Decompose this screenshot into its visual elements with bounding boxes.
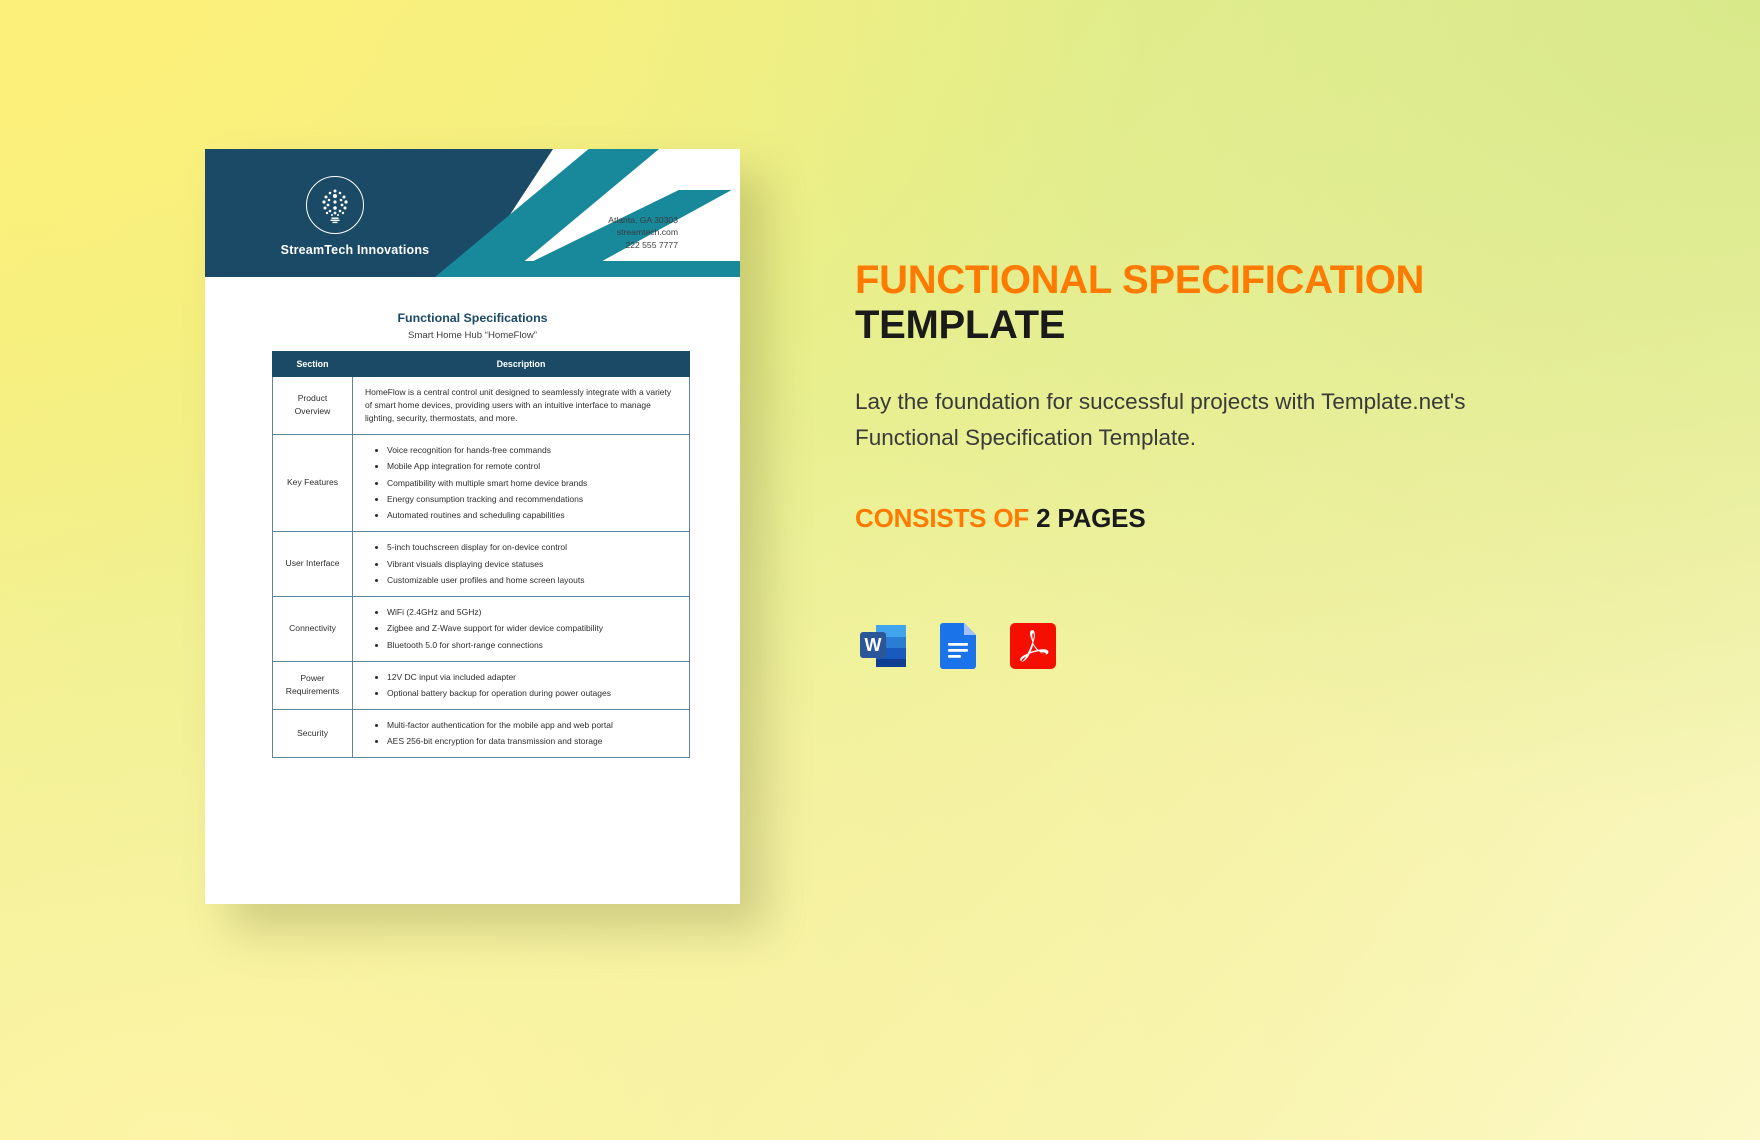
adobe-pdf-icon[interactable]: [1005, 618, 1061, 674]
description-paragraph: HomeFlow is a central control unit desig…: [365, 386, 679, 425]
table-row: ConnectivityWiFi (2.4GHz and 5GHz)Zigbee…: [273, 596, 690, 661]
list-item: Zigbee and Z-Wave support for wider devi…: [387, 622, 679, 635]
list-item: Mobile App integration for remote contro…: [387, 460, 679, 473]
list-item: Automated routines and scheduling capabi…: [387, 509, 679, 522]
cell-description: HomeFlow is a central control unit desig…: [353, 377, 690, 435]
list-item: Bluetooth 5.0 for short-range connection…: [387, 639, 679, 652]
list-item: Vibrant visuals displaying device status…: [387, 558, 679, 571]
cell-description: WiFi (2.4GHz and 5GHz)Zigbee and Z-Wave …: [353, 596, 690, 661]
list-item: Optional battery backup for operation du…: [387, 687, 679, 700]
description-list: Voice recognition for hands-free command…: [365, 444, 679, 523]
cell-section: Security: [273, 710, 353, 758]
google-docs-icon[interactable]: [930, 618, 986, 674]
table-row: Key FeaturesVoice recognition for hands-…: [273, 434, 690, 532]
brand-name: StreamTech Innovations: [205, 243, 505, 257]
contact-website: streamtech.com: [608, 226, 678, 238]
list-item: AES 256-bit encryption for data transmis…: [387, 735, 679, 748]
page-root: StreamTech Innovations Atlanta, GA 30303…: [0, 0, 1760, 1140]
cell-description: Multi-factor authentication for the mobi…: [353, 710, 690, 758]
promo-description: Lay the foundation for successful projec…: [855, 384, 1495, 457]
cell-description: 5-inch touchscreen display for on-device…: [353, 532, 690, 597]
description-list: 12V DC input via included adapterOptiona…: [365, 671, 679, 700]
table-row: User Interface5-inch touchscreen display…: [273, 532, 690, 597]
column-header-section: Section: [273, 352, 353, 377]
cell-section: Connectivity: [273, 596, 353, 661]
contact-block: Atlanta, GA 30303 streamtech.com 222 555…: [608, 214, 678, 251]
description-list: Multi-factor authentication for the mobi…: [365, 719, 679, 748]
logo-circle: [306, 176, 364, 234]
page-title: FUNCTIONAL SPECIFICATION TEMPLATE: [855, 258, 1495, 348]
table-row: Product OverviewHomeFlow is a central co…: [273, 377, 690, 435]
list-item: Multi-factor authentication for the mobi…: [387, 719, 679, 732]
table-header-row: Section Description: [273, 352, 690, 377]
letterhead-header: StreamTech Innovations Atlanta, GA 30303…: [205, 149, 740, 277]
specifications-table: Section Description Product OverviewHome…: [272, 351, 690, 758]
consists-of-label: CONSISTS OF: [855, 503, 1029, 533]
contact-address: Atlanta, GA 30303: [608, 214, 678, 226]
headline-line-1: FUNCTIONAL SPECIFICATION: [855, 258, 1495, 303]
list-item: WiFi (2.4GHz and 5GHz): [387, 606, 679, 619]
pages-value: 2 PAGES: [1036, 503, 1145, 533]
promo-panel: FUNCTIONAL SPECIFICATION TEMPLATE Lay th…: [855, 258, 1495, 534]
pages-count-line: CONSISTS OF 2 PAGES: [855, 503, 1495, 534]
document-subtitle: Smart Home Hub “HomeFlow”: [205, 330, 740, 341]
file-format-list: W: [855, 618, 1061, 674]
cell-section: Product Overview: [273, 377, 353, 435]
cell-section: Key Features: [273, 434, 353, 532]
cell-description: Voice recognition for hands-free command…: [353, 434, 690, 532]
document-title: Functional Specifications: [205, 311, 740, 325]
list-item: Customizable user profiles and home scre…: [387, 574, 679, 587]
column-header-description: Description: [353, 352, 690, 377]
table-row: Power Requirements12V DC input via inclu…: [273, 661, 690, 709]
list-item: 12V DC input via included adapter: [387, 671, 679, 684]
headline-line-2: TEMPLATE: [855, 303, 1495, 348]
document-preview-card[interactable]: StreamTech Innovations Atlanta, GA 30303…: [205, 149, 740, 904]
description-list: 5-inch touchscreen display for on-device…: [365, 541, 679, 587]
header-teal-baseline: [505, 261, 740, 277]
list-item: Voice recognition for hands-free command…: [387, 444, 679, 457]
table-row: SecurityMulti-factor authentication for …: [273, 710, 690, 758]
microsoft-word-icon[interactable]: W: [855, 618, 911, 674]
svg-text:W: W: [865, 635, 882, 655]
list-item: 5-inch touchscreen display for on-device…: [387, 541, 679, 554]
list-item: Compatibility with multiple smart home d…: [387, 477, 679, 490]
description-list: WiFi (2.4GHz and 5GHz)Zigbee and Z-Wave …: [365, 606, 679, 652]
cell-section: Power Requirements: [273, 661, 353, 709]
contact-phone: 222 555 7777: [608, 239, 678, 251]
cell-section: User Interface: [273, 532, 353, 597]
list-item: Energy consumption tracking and recommen…: [387, 493, 679, 506]
cell-description: 12V DC input via included adapterOptiona…: [353, 661, 690, 709]
network-node-circle-icon: [307, 177, 363, 233]
